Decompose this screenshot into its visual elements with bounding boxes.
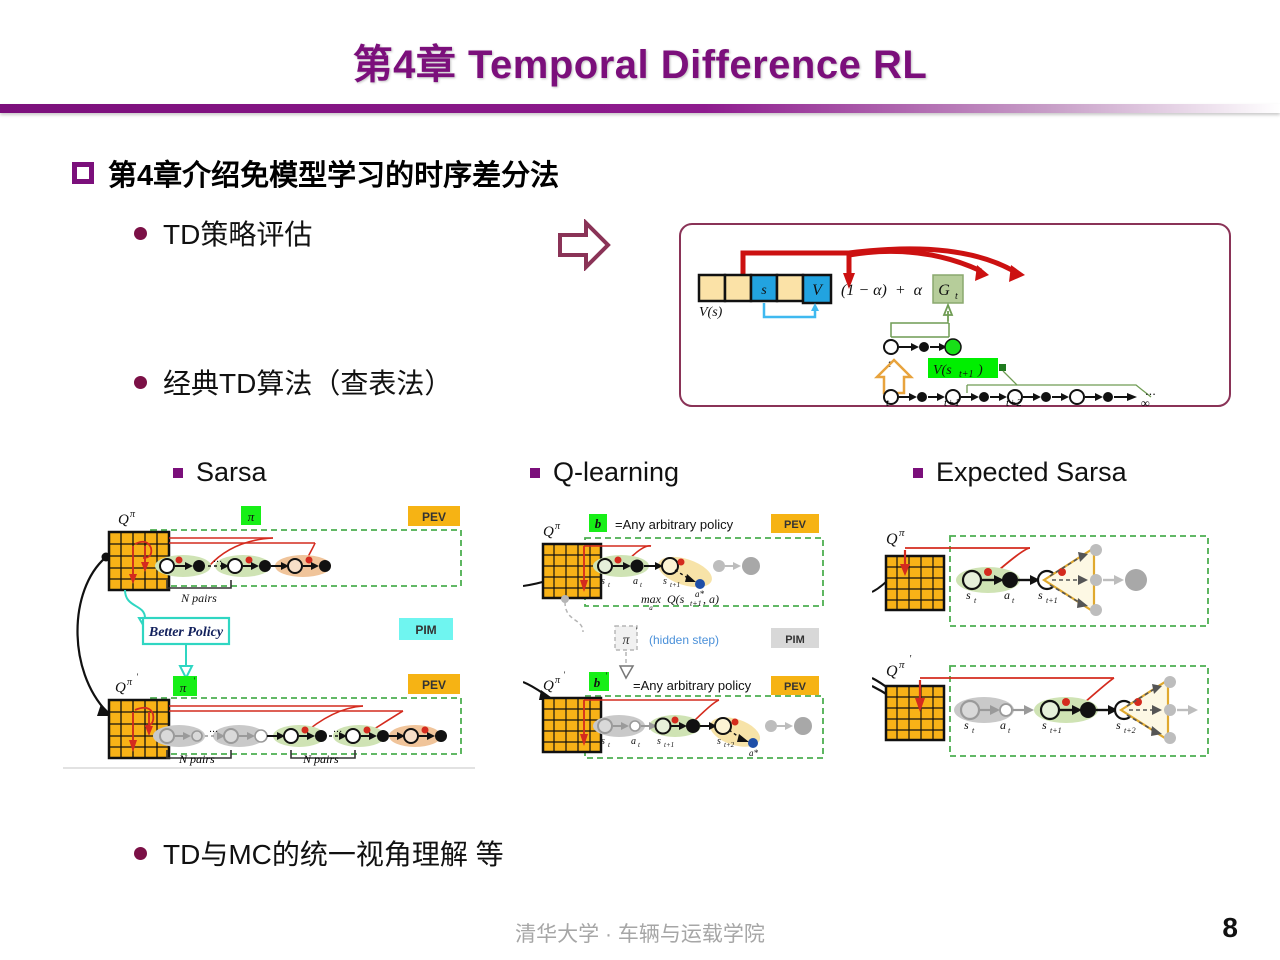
svg-text:t: t — [640, 581, 643, 589]
svg-text:s: s — [663, 576, 667, 587]
svg-text:t: t — [638, 741, 641, 749]
svg-text:t: t — [972, 726, 975, 735]
svg-text:s: s — [657, 736, 661, 747]
svg-text:s: s — [1038, 588, 1043, 602]
q-table-bottom — [886, 680, 944, 740]
formula-text: (1 − α) + α — [841, 282, 923, 299]
svg-text:t+1: t+1 — [690, 599, 702, 608]
svg-text:s: s — [964, 718, 969, 732]
q-label-top: Q — [543, 524, 554, 540]
svg-text:s: s — [601, 736, 605, 747]
outline-heading-row: 第4章介绍免模型学习的时序差分法 — [72, 152, 559, 194]
svg-text:s: s — [717, 736, 721, 747]
astar-label-bottom: a* — [749, 748, 759, 758]
q-label-top: Q — [118, 512, 129, 528]
badge-pev-bottom: PEV — [784, 681, 807, 693]
q-label-top: Q — [886, 531, 898, 548]
svg-text:t+1: t+1 — [1050, 726, 1062, 735]
q-table-top — [543, 544, 601, 603]
svg-text:t: t — [608, 741, 611, 749]
expected-sarsa-figure: Q π s — [872, 500, 1212, 772]
q-sup-top: π — [555, 521, 561, 532]
n-pairs-bottom-1: N pairs — [179, 752, 215, 767]
small-square-bullet-icon — [530, 468, 540, 478]
badge-pev-bottom: PEV — [422, 678, 446, 692]
badge-pim: PIM — [415, 623, 436, 637]
trajectory-bottom: s t a t s t+1 s t+2 a* — [593, 712, 812, 758]
page-number: 8 — [1222, 912, 1238, 944]
q-label-bottom: Q — [115, 680, 126, 696]
bullet-td-policy-evaluation: TD策略评估 — [134, 213, 312, 253]
trajectory-bottom: ... ... — [153, 723, 447, 747]
trajectory-top: ... — [155, 553, 331, 577]
bullet-label: TD策略评估 — [163, 213, 312, 253]
badge-pev-top: PEV — [784, 519, 807, 531]
svg-text:a: a — [1000, 718, 1006, 732]
svg-text:t: t — [1012, 596, 1015, 605]
right-arrow-outline-icon — [556, 219, 612, 271]
svg-text:t+1: t+1 — [1046, 596, 1058, 605]
behavior-note-top: =Any arbitrary policy — [615, 517, 734, 532]
svg-text:t: t — [1008, 726, 1011, 735]
svg-text:t: t — [608, 581, 611, 589]
dot-bullet-icon — [134, 847, 147, 860]
policy-badge-bottom: π — [180, 680, 187, 695]
n-pairs-bottom-2: N pairs — [303, 752, 339, 767]
badge-pev-top: PEV — [422, 510, 446, 524]
behavior-badge-top: b — [595, 516, 602, 531]
q-sup-top: π — [899, 527, 905, 539]
algo-head-expected-sarsa: Expected Sarsa — [913, 457, 1127, 488]
q-learning-figure: PEV b =Any arbitrary policy Q π — [523, 500, 828, 772]
hidden-step-note: (hidden step) — [649, 633, 719, 647]
bullet-label: 经典TD算法（查表法） — [163, 362, 452, 402]
policy-badge-top: π — [248, 509, 255, 524]
svg-text:t+2: t+2 — [724, 741, 735, 749]
svg-text:s: s — [966, 588, 971, 602]
q-sup-top: π — [130, 509, 136, 520]
trajectory-bottom: s t a t s t+1 s t+2 — [954, 676, 1198, 744]
svg-text:t+1: t+1 — [664, 741, 674, 749]
hidden-policy-badge: π — [622, 633, 630, 648]
q-table-top — [886, 550, 944, 610]
svg-text:, a): , a) — [703, 592, 719, 606]
dot-bullet-icon — [134, 227, 147, 240]
bullet-classic-td-algorithms: 经典TD算法（查表法） — [134, 362, 452, 402]
svg-text:V(s: V(s — [933, 363, 952, 378]
svg-text:′: ′ — [909, 654, 912, 665]
svg-text:a: a — [1004, 588, 1010, 602]
svg-text:s: s — [1116, 718, 1121, 732]
state-cell-label: s — [761, 283, 767, 298]
svg-text:Q(s: Q(s — [667, 592, 685, 606]
target-cell-sub: t — [955, 291, 958, 302]
td-policy-evaluation-figure: s V(s) V (1 − α) + α G t t — [679, 223, 1231, 407]
td-time-label-t1: t+1 — [944, 397, 960, 409]
bullet-td-mc-unified-view: TD与MC的统一视角理解 等 — [134, 833, 504, 873]
svg-text:a: a — [649, 604, 653, 612]
svg-text:t+1: t+1 — [959, 369, 974, 380]
title-divider — [0, 104, 1280, 113]
td-time-label-t: t — [886, 397, 889, 409]
q-table-bottom — [543, 698, 601, 752]
bullet-label: TD与MC的统一视角理解 等 — [163, 833, 504, 873]
gold-up-arrow-icon — [877, 360, 911, 393]
small-square-bullet-icon — [173, 468, 183, 478]
svg-text:′: ′ — [136, 672, 139, 682]
svg-text:...: ... — [209, 723, 218, 735]
q-sup-bottom: π — [127, 677, 133, 688]
page-title: 第4章 Temporal Difference RL — [0, 32, 1280, 90]
target-cell-label: G — [938, 282, 950, 299]
dot-bullet-icon — [134, 376, 147, 389]
value-table: s V(s) — [699, 275, 803, 320]
svg-text:a: a — [631, 736, 636, 747]
q-label-bottom: Q — [886, 663, 898, 680]
better-policy-box: Better Policy — [148, 625, 224, 640]
svg-text:t+1: t+1 — [670, 581, 680, 589]
svg-text:...: ... — [213, 553, 222, 565]
algo-label: Q-learning — [553, 457, 679, 488]
algo-head-q-learning: Q-learning — [530, 457, 679, 488]
svg-text:t: t — [974, 596, 977, 605]
n-pairs-top: N pairs — [180, 591, 217, 605]
small-square-bullet-icon — [913, 468, 923, 478]
value-table-label: V(s) — [699, 305, 723, 320]
trajectory-top: s t a t s t+1 — [956, 544, 1147, 616]
q-sup-bottom: π — [555, 675, 561, 686]
behavior-note-bottom: =Any arbitrary policy — [633, 678, 752, 693]
td-time-label-inf: ∞ — [1141, 396, 1150, 411]
svg-text:a: a — [633, 576, 638, 587]
algo-head-sarsa: Sarsa — [173, 457, 267, 488]
algo-label: Sarsa — [196, 457, 267, 488]
svg-text:): ) — [977, 363, 983, 378]
square-bullet-icon — [72, 162, 94, 184]
svg-text:s: s — [1042, 718, 1047, 732]
footer-organization: 清华大学 · 车辆与运载学院 — [0, 918, 1280, 948]
svg-text:t+2: t+2 — [1124, 726, 1136, 735]
value-next-highlight: V(s t+1 ) — [928, 358, 1006, 380]
svg-text:′: ′ — [563, 670, 566, 680]
badge-pim: PIM — [785, 634, 805, 646]
q-label-bottom: Q — [543, 678, 554, 694]
behavior-badge-bottom: b — [594, 675, 601, 690]
svg-text:s: s — [601, 576, 605, 587]
td-time-label-t2: t+2 — [1006, 397, 1022, 409]
algo-label: Expected Sarsa — [936, 457, 1127, 488]
outline-heading-label: 第4章介绍免模型学习的时序差分法 — [108, 152, 559, 194]
q-sup-bottom: π — [899, 659, 905, 671]
sarsa-figure: PEV Q π π — [63, 500, 475, 772]
